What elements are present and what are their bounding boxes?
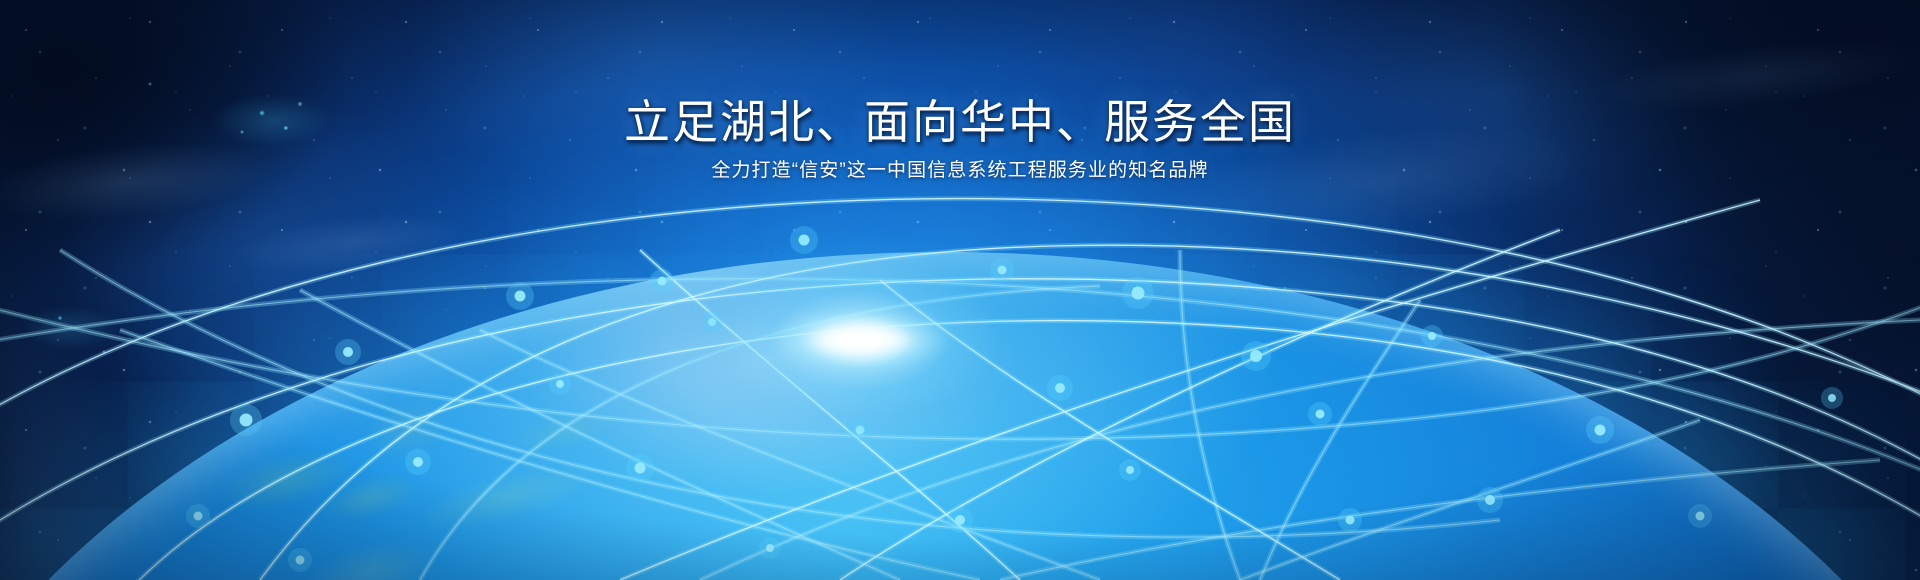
page-title: 立足湖北、面向华中、服务全国 [0,96,1920,148]
hero-banner: 立足湖北、面向华中、服务全国 全力打造“信安”这一中国信息系统工程服务业的知名品… [0,0,1920,580]
page-subtitle: 全力打造“信安”这一中国信息系统工程服务业的知名品牌 [0,158,1920,184]
hero-copy-block: 立足湖北、面向华中、服务全国 全力打造“信安”这一中国信息系统工程服务业的知名品… [0,96,1920,184]
edge-vignette [0,0,1920,580]
